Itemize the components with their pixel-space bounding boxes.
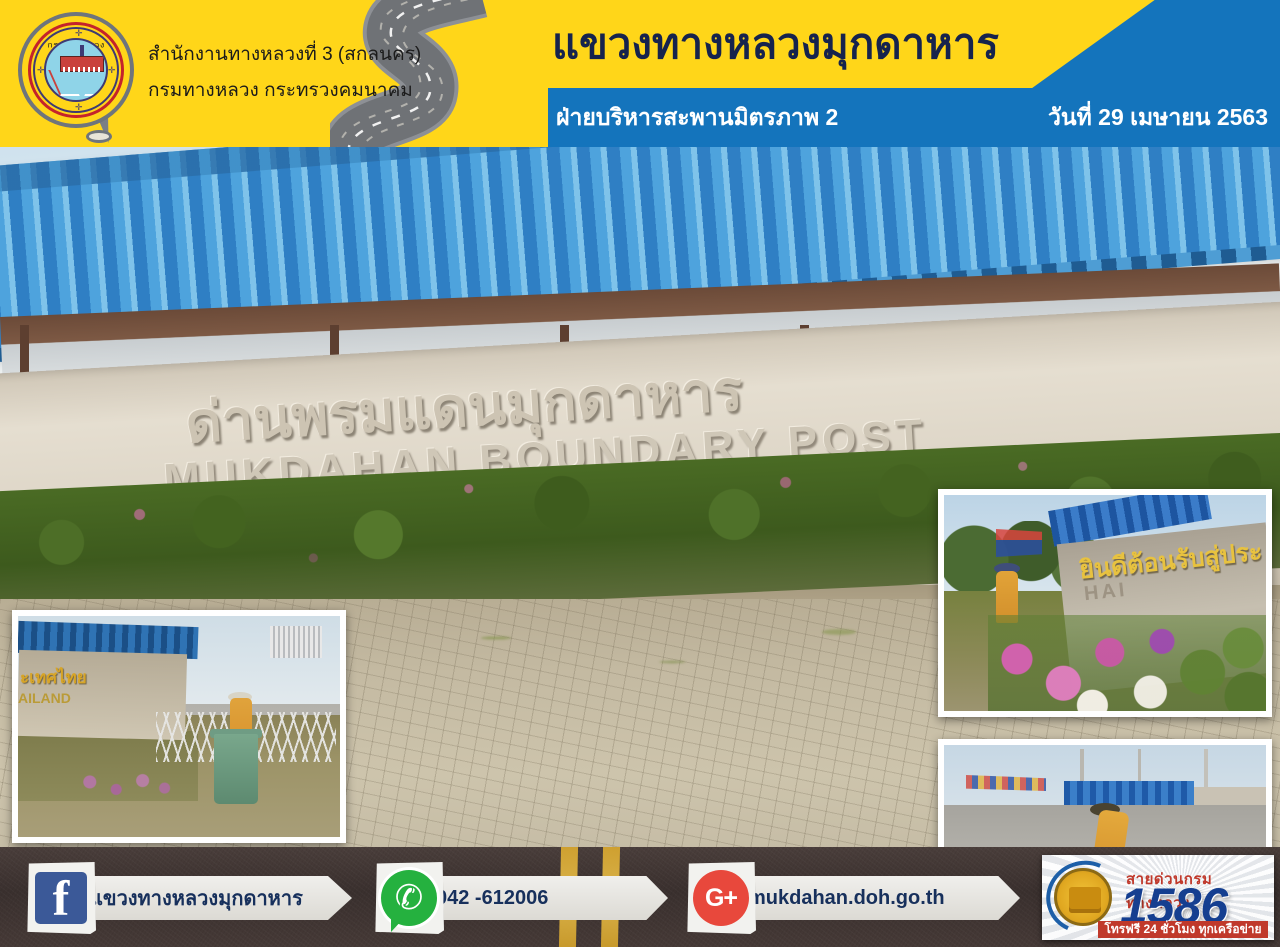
emblem-bridge-scene: [44, 38, 108, 102]
inset2-bougainvillea-bed: [988, 615, 1266, 711]
org-office-name: สำนักงานทางหลวงที่ 3 (สกลนคร): [148, 40, 421, 70]
organization-block: สำนักงานทางหลวงที่ 3 (สกลนคร) กรมทางหลวง…: [148, 40, 421, 106]
emblem-cross-right: ✛: [108, 67, 115, 74]
inset2-wall-text-english: HAI: [1083, 579, 1129, 606]
inset-photo-bougainvillea: ยินดีต้อนรับสู่ประ HAI: [938, 489, 1272, 717]
inset1-wall-text-english: AILAND: [18, 690, 71, 706]
emblem-cross-bottom: ✛: [75, 104, 82, 111]
whatsapp-badge[interactable]: [374, 862, 444, 934]
inset3-worker: [1092, 809, 1129, 847]
hotline-subtitle: โทรฟรี 24 ชั่วโมง ทุกเครือข่าย: [1098, 921, 1268, 938]
date-label: วันที่ 29 เมษายน 2563: [1048, 99, 1268, 135]
hotline-badge[interactable]: สายด่วนกรมทางหลวง 1586 โทรฟรี 24 ชั่วโมง…: [1042, 855, 1274, 940]
google-plus-icon: [693, 870, 749, 926]
map-pin-base-icon: [86, 130, 112, 143]
facebook-arrow-banner[interactable]: แขวงทางหลวงมุกดาหาร: [52, 876, 352, 920]
website-arrow-banner[interactable]: mukdahan.doh.go.th: [710, 876, 1020, 920]
inset1-cut-flowers: [70, 767, 180, 801]
facebook-icon: [35, 872, 87, 924]
inset3-blue-roof-building: [1064, 781, 1194, 807]
inset-photo-trash-collection: ะเทศไทย AILAND: [12, 610, 346, 843]
emblem-cross-top: ✛: [75, 30, 82, 37]
whatsapp-icon: [381, 870, 437, 926]
org-department-name: กรมทางหลวง กระทรวงคมนาคม: [148, 76, 421, 106]
poster-page: กรมทางหลวง ✛ ✛ ✛ ✛ สำนักงานทางหลวงที่ 3 …: [0, 0, 1280, 947]
inset1-billboard: [270, 626, 322, 658]
inset1-wall-text-thai: ะเทศไทย: [20, 664, 87, 691]
page-header: กรมทางหลวง ✛ ✛ ✛ ✛ สำนักงานทางหลวงที่ 3 …: [0, 0, 1280, 147]
inset-photo-shrub-trimming: [938, 739, 1272, 847]
roof-ridge: [0, 147, 1280, 193]
main-photo: ด่านพรมแดนมุกดาหาร MUKDAHAN BOUNDARY POS…: [0, 147, 1280, 847]
google-plus-badge[interactable]: [686, 862, 756, 934]
division-label: ฝ่ายบริหารสะพานมิตรภาพ 2: [556, 99, 838, 135]
emblem-cross-left: ✛: [37, 67, 44, 74]
doh-seal-icon: [1054, 868, 1112, 926]
emblem-cable-right: [84, 70, 108, 96]
emblem-cable-left: [48, 70, 80, 96]
facebook-badge[interactable]: [26, 862, 96, 934]
doh-emblem: กรมทางหลวง ✛ ✛ ✛ ✛: [12, 6, 140, 146]
inset2-flags: [996, 529, 1042, 557]
page-title: แขวงทางหลวงมุกดาหาร: [552, 16, 999, 72]
doh-emblem-circle: กรมทางหลวง ✛ ✛ ✛ ✛: [18, 12, 134, 128]
page-footer: แขวงทางหลวงมุกดาหาร 042 -612006 mukdahan…: [0, 847, 1280, 947]
inset1-green-bin: [214, 734, 258, 804]
